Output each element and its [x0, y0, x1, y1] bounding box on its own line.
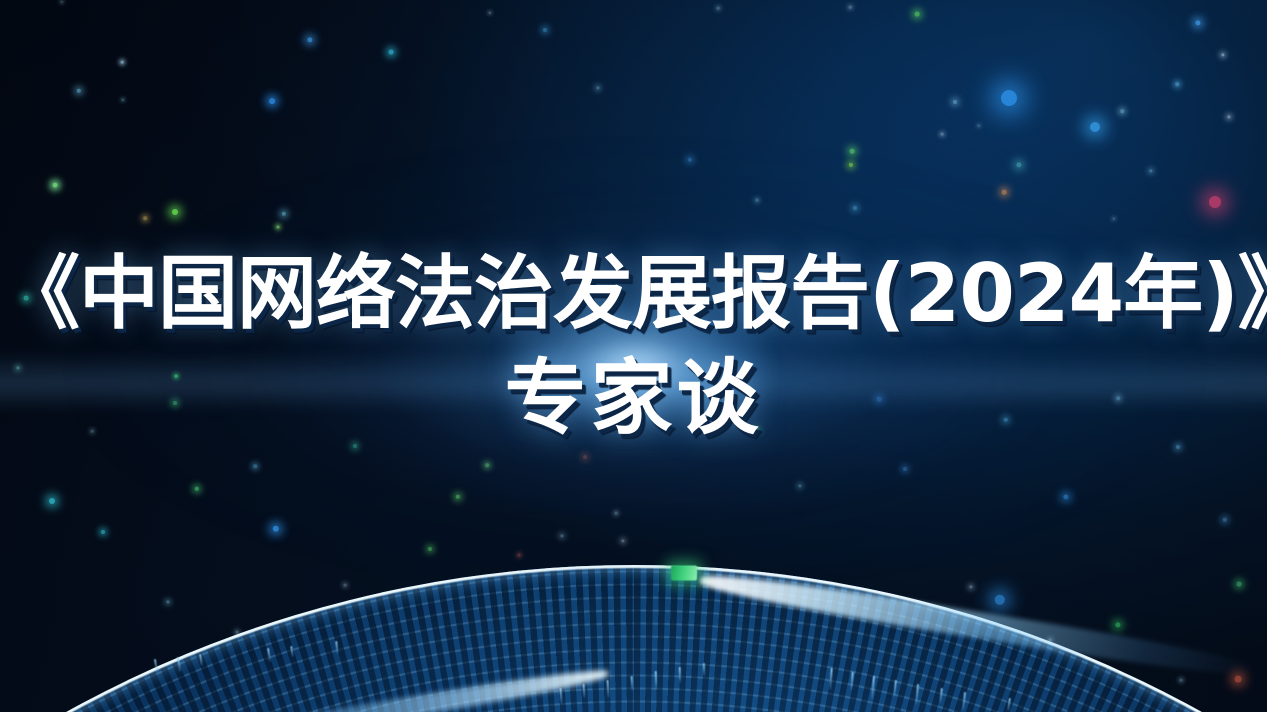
particle-dot: [24, 296, 29, 301]
particle-dot: [1221, 53, 1224, 56]
particle-dot: [1195, 20, 1200, 25]
particle-dot: [121, 61, 124, 64]
particle-dot: [77, 89, 81, 93]
particle-dot: [389, 50, 394, 55]
title-card-stage: 《中国网络法治发展报告(2024年)》 专家谈: [0, 0, 1267, 712]
particle-dot: [543, 28, 547, 32]
particle-dot: [717, 7, 720, 10]
particle-dot: [61, 1, 63, 3]
particle-dot: [953, 100, 957, 104]
particle-dot: [1001, 90, 1017, 106]
particle-dot: [1120, 109, 1124, 113]
particle-dot: [489, 12, 491, 14]
particle-dot: [269, 98, 275, 104]
particle-dot: [307, 37, 312, 42]
particle-dot: [122, 99, 124, 101]
particle-dot: [849, 6, 852, 9]
particle-dot: [1175, 82, 1179, 86]
particle-dot: [978, 125, 980, 127]
particle-dot: [1227, 115, 1230, 118]
particle-dot: [596, 86, 599, 89]
globe-spike: [703, 663, 705, 676]
center-light-core: [511, 301, 761, 431]
particle-dot: [1090, 122, 1100, 132]
particle-dot: [915, 12, 920, 17]
